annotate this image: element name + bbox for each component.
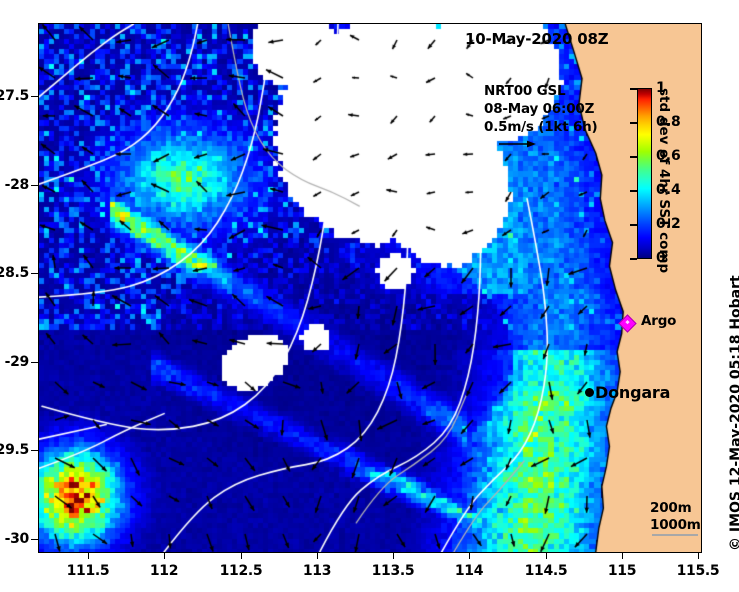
current-source-label: NRT00 GSL	[484, 83, 565, 99]
y-label--28.5: -28.5	[0, 265, 29, 281]
x-label-111.5: 111.5	[58, 563, 118, 579]
current-scale-label: 0.5m/s (1kt 6h)	[484, 119, 598, 135]
x-tick-114.5	[546, 552, 547, 559]
colorbar-label-1: 1	[656, 81, 666, 95]
colorbar-gradient	[637, 88, 652, 259]
y-tick--29.5	[31, 450, 38, 451]
colorbar-tick-0.8	[630, 122, 637, 124]
y-tick--27.5	[31, 96, 38, 97]
x-tick-115.5	[698, 552, 699, 559]
colorbar-label-0.4: 0.4	[656, 183, 681, 197]
x-tick-111.5	[88, 552, 89, 559]
bathymetry-1000m-label: 1000m	[650, 517, 701, 533]
y-label--29: -29	[0, 354, 29, 370]
colorbar-tick-0.4	[630, 190, 637, 192]
x-tick-115	[622, 552, 623, 559]
current-time-label: 08-May 06:00Z	[484, 101, 594, 117]
y-label--28: -28	[0, 177, 29, 193]
dongara-label: Dongara	[595, 383, 670, 402]
y-label--30: -30	[0, 531, 29, 547]
bathymetry-200m-label: 200m	[650, 500, 691, 516]
x-label-115: 115	[592, 563, 652, 579]
colorbar-tick-1	[630, 88, 637, 90]
x-label-113.5: 113.5	[363, 563, 423, 579]
map-plot-area[interactable]	[38, 23, 702, 553]
x-label-113: 113	[287, 563, 347, 579]
x-label-112.5: 112.5	[211, 563, 271, 579]
credit-text: © IMOS 12-May-2020 05:18 Hobart	[728, 275, 739, 551]
x-label-114.5: 114.5	[516, 563, 576, 579]
x-label-112: 112	[134, 563, 194, 579]
colorbar-label-0.2: 0.2	[656, 217, 681, 231]
x-tick-112	[164, 552, 165, 559]
y-tick--28	[31, 185, 38, 186]
x-tick-113	[317, 552, 318, 559]
argo-label: Argo	[641, 313, 676, 329]
dongara-marker-icon	[585, 388, 594, 397]
y-tick--29	[31, 362, 38, 363]
colorbar-label-0.6: 0.6	[656, 149, 681, 163]
x-tick-112.5	[241, 552, 242, 559]
colorbar-tick-0	[630, 258, 637, 260]
y-tick--30	[31, 539, 38, 540]
x-tick-114	[469, 552, 470, 559]
colorbar-tick-0.6	[630, 156, 637, 158]
reference-arrow-icon	[498, 139, 536, 149]
colorbar-label-0.8: 0.8	[656, 115, 681, 129]
sst-stddev-heatmap[interactable]	[39, 24, 701, 552]
colorbar-tick-0.2	[630, 224, 637, 226]
colorbar-label-0: 0	[656, 251, 666, 265]
y-tick--28.5	[31, 273, 38, 274]
figure-root: 10-May-2020 08Z NRT00 GSL 08-May 06:00Z …	[0, 0, 739, 592]
y-label--27.5: -27.5	[0, 88, 29, 104]
x-tick-113.5	[393, 552, 394, 559]
y-label--29.5: -29.5	[0, 442, 29, 458]
x-label-114: 114	[439, 563, 499, 579]
bathymetry-legend-line	[652, 534, 698, 536]
x-label-115.5: 115.5	[668, 563, 728, 579]
date-stamp: 10-May-2020 08Z	[465, 30, 608, 48]
